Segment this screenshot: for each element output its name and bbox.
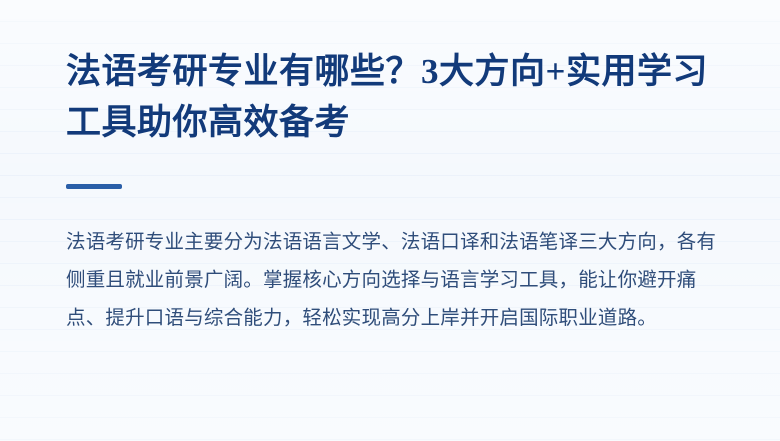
page-title: 法语考研专业有哪些？3大方向+实用学习工具助你高效备考 <box>66 46 718 148</box>
summary-paragraph: 法语考研专业主要分为法语语言文学、法语口译和法语笔译三大方向，各有侧重且就业前景… <box>66 223 718 337</box>
card-content: 法语考研专业有哪些？3大方向+实用学习工具助你高效备考 法语考研专业主要分为法语… <box>0 0 780 337</box>
title-divider <box>66 184 122 189</box>
article-card: 法语考研专业有哪些？3大方向+实用学习工具助你高效备考 法语考研专业主要分为法语… <box>0 0 780 441</box>
